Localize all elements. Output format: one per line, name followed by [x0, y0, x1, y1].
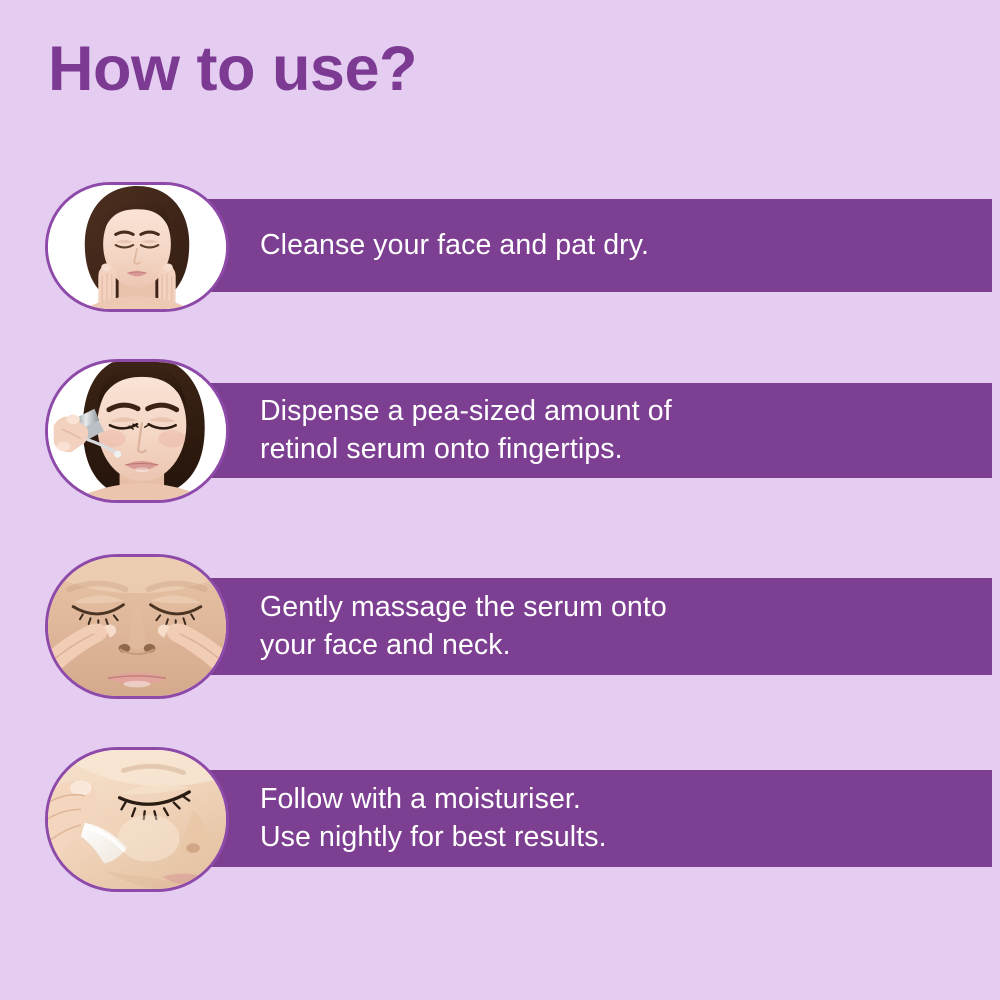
step-1-label: Cleanse your face and pat dry. [260, 227, 649, 264]
step-4-bar: Follow with a moisturiser. Use nightly f… [120, 770, 992, 867]
step-1-image [45, 182, 229, 312]
page-title: How to use? [48, 35, 417, 104]
step-4-label: Follow with a moisturiser. Use nightly f… [260, 781, 607, 855]
how-to-use-infographic: How to use? Cleanse your face and pat dr… [0, 0, 1000, 1000]
step-3-bar: Gently massage the serum onto your face … [120, 578, 992, 675]
step-2-label: Dispense a pea-sized amount of retinol s… [260, 393, 672, 467]
step-1-bar: Cleanse your face and pat dry. [120, 199, 992, 292]
step-4-image [45, 747, 229, 892]
applying-moisturiser-photo [48, 750, 226, 889]
step-3-label: Gently massage the serum onto your face … [260, 589, 667, 663]
serum-dropper-photo [48, 362, 226, 500]
step-2-image [45, 359, 229, 503]
massaging-face-photo [48, 557, 226, 696]
step-2-bar: Dispense a pea-sized amount of retinol s… [120, 383, 992, 478]
step-3-image [45, 554, 229, 699]
woman-cleansing-face-photo [48, 185, 226, 309]
